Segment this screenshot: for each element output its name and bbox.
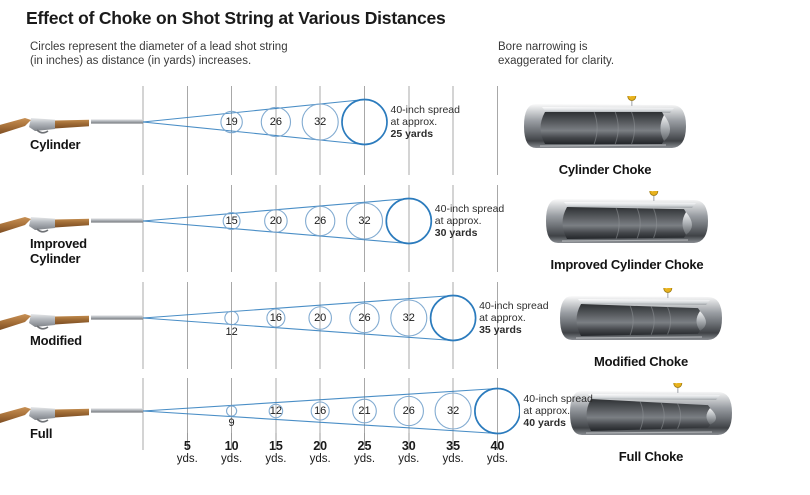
bead-sight-icon <box>674 383 682 388</box>
shot-diameter-value: 15 <box>219 214 245 228</box>
choke-row-label: Cylinder <box>30 138 80 153</box>
bead-sight-icon <box>628 96 636 101</box>
shot-diameter-value: 26 <box>307 214 333 228</box>
shot-diameter-value: 20 <box>263 214 289 228</box>
spread-line-3: 25 yards <box>391 129 460 141</box>
choke-tube-illustration <box>510 96 700 156</box>
x-axis-tick-number: 30 <box>387 440 431 453</box>
x-axis-tick-unit: yds. <box>343 453 387 466</box>
choke-caption: Full Choke <box>556 449 746 464</box>
spread-line-2: at approx. <box>479 313 548 325</box>
x-axis-tick-number: 5 <box>165 440 209 453</box>
choke-row-label: Modified <box>30 334 82 349</box>
shot-diameter-value: 12 <box>263 404 289 418</box>
spread-line-2: at approx. <box>435 216 504 228</box>
choke-caption: Modified Choke <box>546 354 736 369</box>
shot-diameter-value: 32 <box>396 311 422 325</box>
shot-diameter-value: 32 <box>352 214 378 228</box>
x-axis-tick-number: 25 <box>343 440 387 453</box>
shotgun-icon <box>0 314 143 331</box>
x-axis-tick: 30yds. <box>387 440 431 466</box>
x-axis-tick: 15yds. <box>254 440 298 466</box>
x-axis-tick: 25yds. <box>343 440 387 466</box>
shot-diameter-value: 12 <box>219 326 245 338</box>
shot-diameter-value: 9 <box>219 417 245 429</box>
choke-caption: Cylinder Choke <box>510 162 700 177</box>
infographic-canvas: Effect of Choke on Shot String at Variou… <box>0 0 810 495</box>
shot-diameter-value: 21 <box>352 404 378 418</box>
x-axis-tick-number: 10 <box>210 440 254 453</box>
x-axis-tick-unit: yds. <box>254 453 298 466</box>
spread-annotation: 40-inch spreadat approx.30 yards <box>435 204 504 239</box>
x-axis-tick-unit: yds. <box>210 453 254 466</box>
choke-row-label: Full <box>30 427 52 442</box>
shot-diameter-value: 16 <box>307 404 333 418</box>
spread-line-3: 35 yards <box>479 325 548 337</box>
x-axis-tick-number: 20 <box>298 440 342 453</box>
shot-diameter-value: 20 <box>307 311 333 325</box>
spread-line-3: 30 yards <box>435 228 504 240</box>
x-axis-tick-unit: yds. <box>298 453 342 466</box>
choke-caption: Improved Cylinder Choke <box>532 257 722 272</box>
spread-line-2: at approx. <box>391 117 460 129</box>
x-axis-tick-number: 35 <box>431 440 475 453</box>
x-axis-tick: 5yds. <box>165 440 209 466</box>
shot-diameter-value: 19 <box>219 115 245 129</box>
x-axis-tick-number: 15 <box>254 440 298 453</box>
spread-line-2: at approx. <box>523 406 592 418</box>
shotgun-icon <box>0 407 143 424</box>
spread-line-3: 40 yards <box>523 418 592 430</box>
x-axis-tick: 20yds. <box>298 440 342 466</box>
page-title: Effect of Choke on Shot String at Variou… <box>26 8 446 29</box>
shot-diameter-value: 26 <box>396 404 422 418</box>
x-axis-tick: 10yds. <box>210 440 254 466</box>
legend-note-bore: Bore narrowing is exaggerated for clarit… <box>498 41 614 68</box>
choke-tube-svg <box>510 96 700 166</box>
spread-annotation: 40-inch spreadat approx.25 yards <box>391 105 460 140</box>
spread-annotation: 40-inch spreadat approx.40 yards <box>523 394 592 429</box>
choke-tube-svg <box>546 288 736 358</box>
bead-sight-icon <box>664 288 672 293</box>
shot-diameter-value: 32 <box>307 115 333 129</box>
shot-diameter-value: 16 <box>263 311 289 325</box>
shot-diameter-value: 32 <box>440 404 466 418</box>
x-axis-tick: 40yds. <box>475 440 519 466</box>
choke-row-label: Improved Cylinder <box>30 237 87 266</box>
shotgun-icon <box>0 118 143 135</box>
choke-tube-illustration <box>546 288 736 348</box>
shotgun-icon <box>0 217 143 234</box>
choke-tube-illustration <box>532 191 722 251</box>
x-axis-tick-unit: yds. <box>165 453 209 466</box>
x-axis-tick-number: 40 <box>475 440 519 453</box>
choke-tube-svg <box>532 191 722 261</box>
legend-note-circles: Circles represent the diameter of a lead… <box>30 41 288 68</box>
x-axis-tick-unit: yds. <box>387 453 431 466</box>
shot-diameter-value: 26 <box>352 311 378 325</box>
x-axis-tick: 35yds. <box>431 440 475 466</box>
x-axis-tick-unit: yds. <box>431 453 475 466</box>
x-axis-tick-unit: yds. <box>475 453 519 466</box>
shot-diameter-value: 26 <box>263 115 289 129</box>
bead-sight-icon <box>650 191 658 196</box>
spread-annotation: 40-inch spreadat approx.35 yards <box>479 301 548 336</box>
